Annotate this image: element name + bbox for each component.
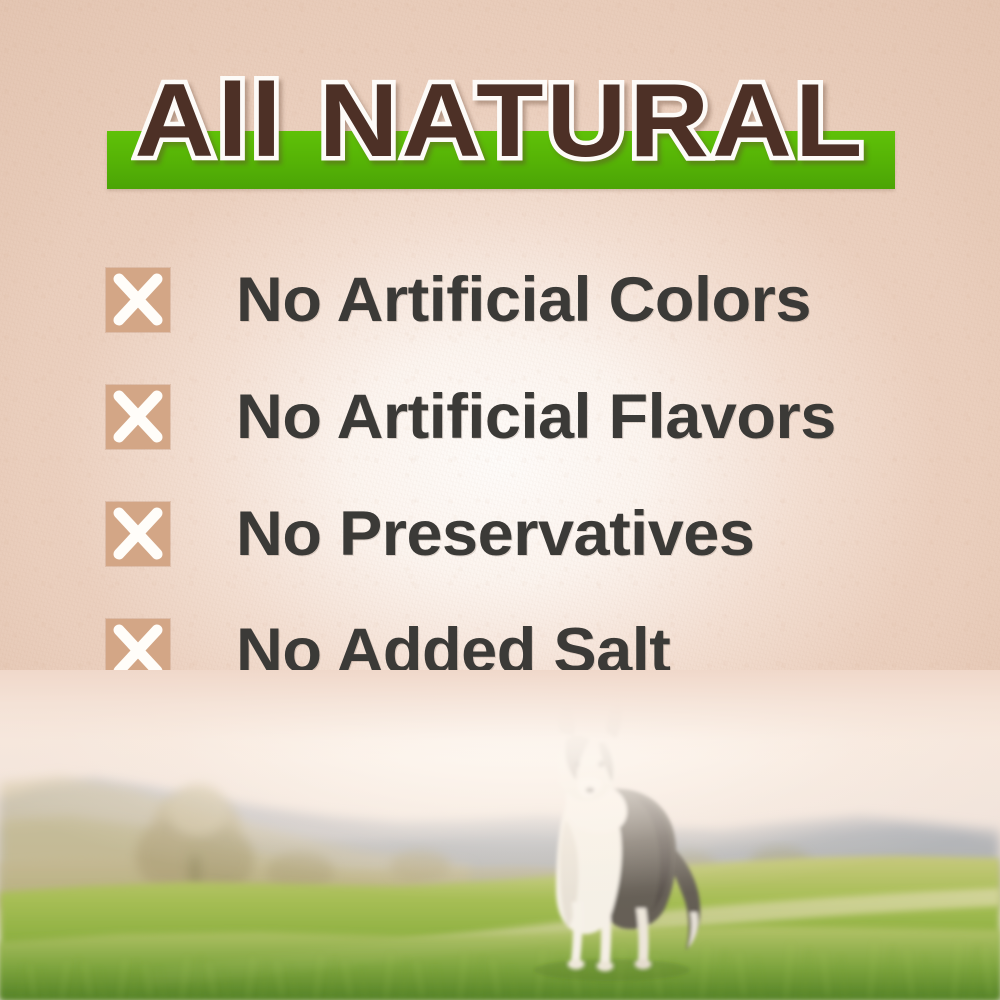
- feature-label: No Artificial Colors: [236, 258, 811, 342]
- list-item: No Preservatives: [106, 492, 906, 609]
- headline-block: All NATURAL: [0, 62, 1000, 197]
- x-mark-icon: [106, 385, 170, 449]
- headline-text: All NATURAL: [0, 62, 1000, 180]
- x-mark-icon: [106, 268, 170, 332]
- dog-landscape-photo: [0, 670, 1000, 1000]
- feature-label: No Artificial Flavors: [236, 375, 836, 459]
- x-mark-icon: [106, 502, 170, 566]
- list-item: No Artificial Flavors: [106, 375, 906, 492]
- all-natural-feature-panel: All NATURAL No Artificial Colors No Arti…: [0, 0, 1000, 1000]
- feature-label: No Preservatives: [236, 492, 754, 576]
- list-item: No Artificial Colors: [106, 258, 906, 375]
- feature-list: No Artificial Colors No Artificial Flavo…: [106, 258, 906, 726]
